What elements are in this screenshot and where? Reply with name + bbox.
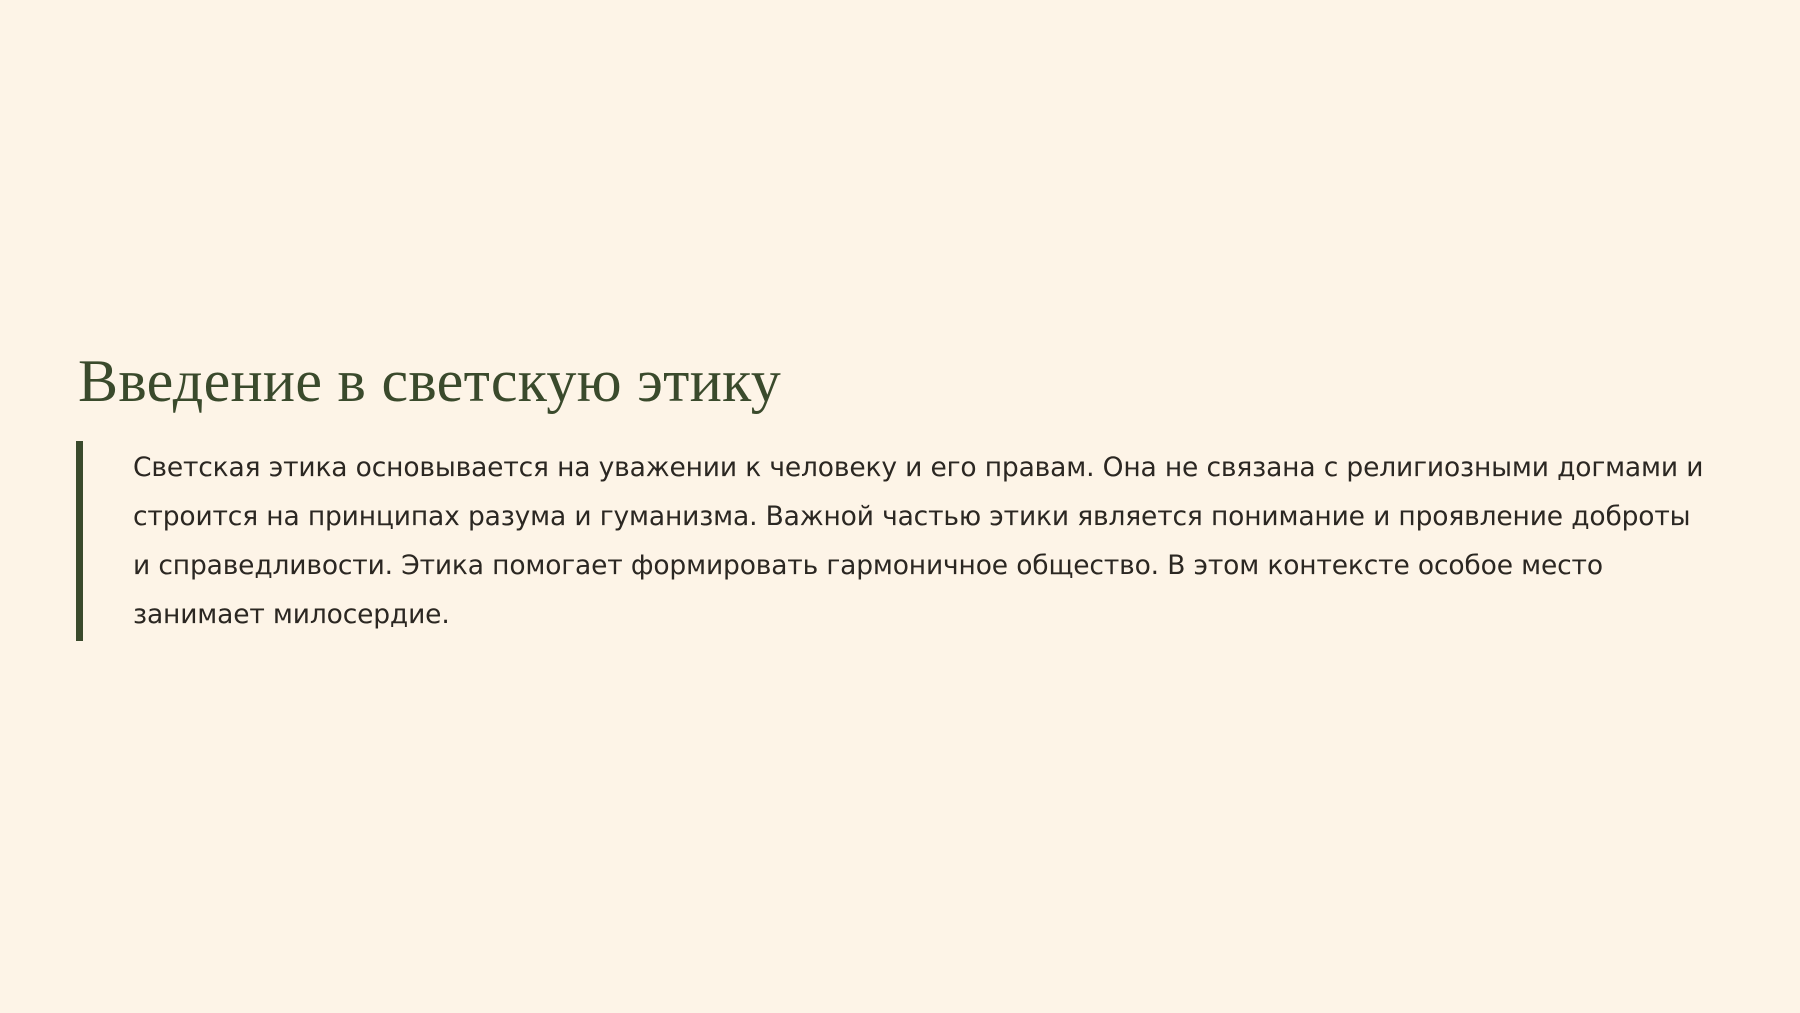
slide-content: Введение в светскую этику Светская этика… xyxy=(76,348,1736,641)
body-paragraph: Светская этика основывается на уважении … xyxy=(133,443,1713,639)
accent-bar xyxy=(76,441,83,641)
page-title: Введение в светскую этику xyxy=(76,348,1736,415)
slide-canvas: Введение в светскую этику Светская этика… xyxy=(0,0,1800,1013)
body-text-container: Светская этика основывается на уважении … xyxy=(83,441,1736,641)
quote-block: Светская этика основывается на уважении … xyxy=(76,441,1736,641)
